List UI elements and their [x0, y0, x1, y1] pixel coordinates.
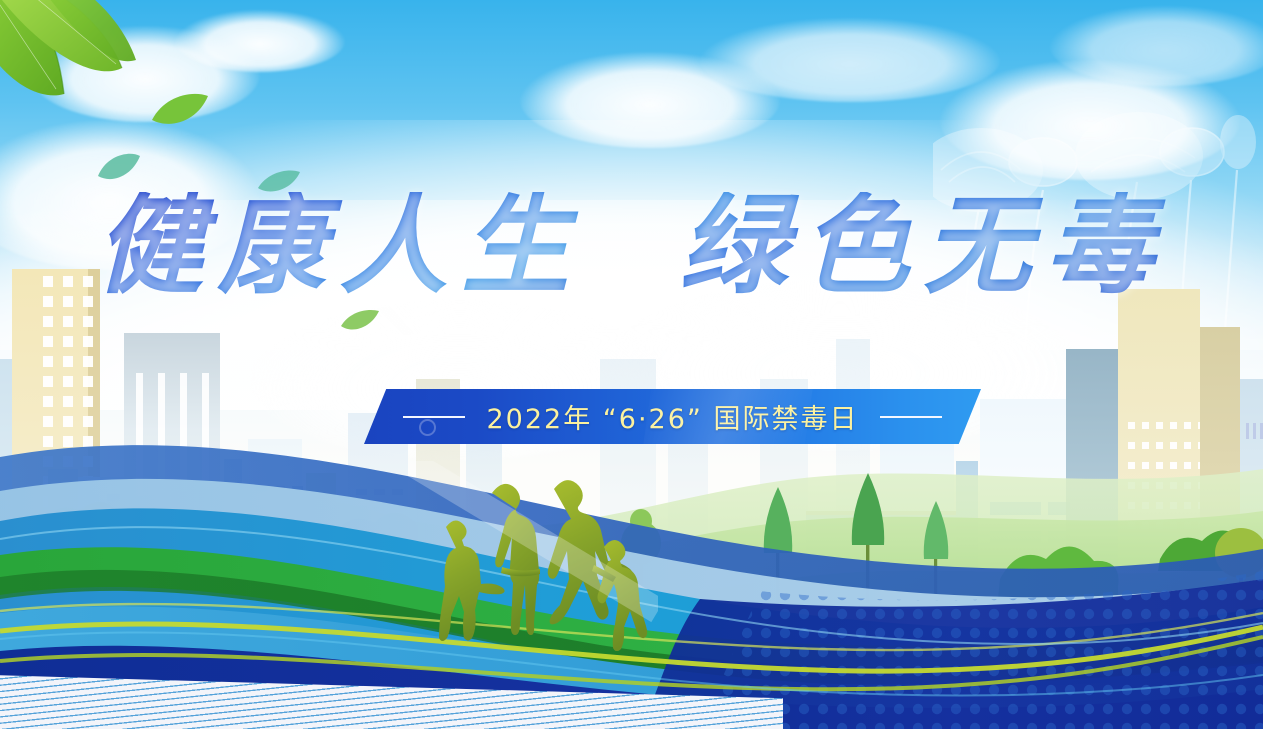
- banner-ring-decor: [419, 419, 436, 436]
- family-silhouette-icon: [408, 461, 658, 651]
- banner-sheen: [642, 389, 815, 444]
- poster-canvas: 健康人生 绿色无毒 2022年 “6·26” 国际禁毒日: [0, 0, 1263, 729]
- banner-dash-left: [403, 416, 465, 418]
- leaf-icon: [150, 90, 210, 130]
- banner-dash-right: [880, 416, 942, 418]
- subtitle-banner: 2022年 “6·26” 国际禁毒日: [364, 389, 981, 444]
